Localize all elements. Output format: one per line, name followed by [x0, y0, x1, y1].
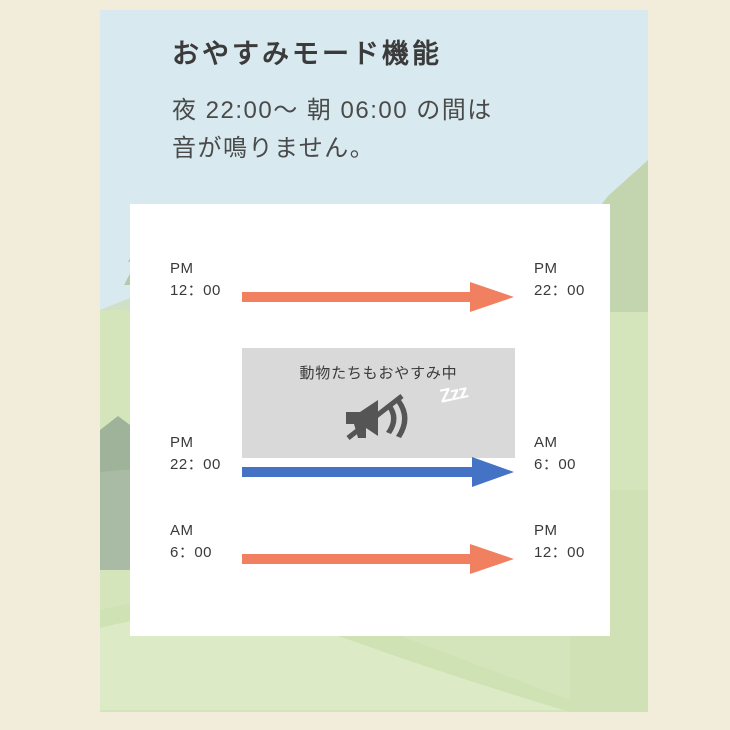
timeline-end-label: PM 22：00	[534, 258, 585, 302]
page-title: おやすみモード機能	[172, 36, 602, 72]
arrow-right-icon	[242, 454, 514, 488]
timeline-start-label: PM 22：00	[170, 432, 221, 476]
timeline-start-ampm: PM	[170, 432, 221, 454]
sleep-zzz-text: Zzz	[438, 381, 470, 408]
arrow-right-icon	[242, 280, 514, 314]
timeline-arrow-day-1	[242, 280, 514, 314]
timeline-row-night: PM 22：00 AM 6：00	[130, 426, 610, 486]
timeline-row-day-1: PM 12：00 PM 22：00	[130, 252, 610, 312]
timeline-end-ampm: PM	[534, 520, 585, 542]
arrow-right-icon	[242, 542, 514, 576]
timeline-start-clock: 6：00	[170, 542, 212, 564]
timeline-end-label: AM 6：00	[534, 432, 576, 476]
timeline-row-day-2: AM 6：00 PM 12：00	[130, 514, 610, 574]
timeline-end-clock: 6：00	[534, 454, 576, 476]
timeline-start-label: PM 12：00	[170, 258, 221, 302]
timeline-start-ampm: PM	[170, 258, 221, 280]
timeline-arrow-night	[242, 454, 514, 488]
timeline-end-label: PM 12：00	[534, 520, 585, 564]
timeline-end-ampm: PM	[534, 258, 585, 280]
page-subtitle: 夜 22:00〜 朝 06:00 の間は 音が鳴りません。	[172, 92, 602, 166]
timeline-start-ampm: AM	[170, 520, 212, 542]
timeline-card: 動物たちもおやすみ中 Zzz PM 12：00	[130, 204, 610, 636]
timeline-start-clock: 12：00	[170, 280, 221, 302]
timeline-arrow-day-2	[242, 542, 514, 576]
quiet-hours-label: 動物たちもおやすみ中	[242, 362, 515, 383]
timeline-end-clock: 12：00	[534, 542, 585, 564]
timeline-start-clock: 22：00	[170, 454, 221, 476]
heading-block: おやすみモード機能 夜 22:00〜 朝 06:00 の間は 音が鳴りません。	[172, 36, 602, 167]
timeline-end-ampm: AM	[534, 432, 576, 454]
timeline-end-clock: 22：00	[534, 280, 585, 302]
timeline-start-label: AM 6：00	[170, 520, 212, 564]
